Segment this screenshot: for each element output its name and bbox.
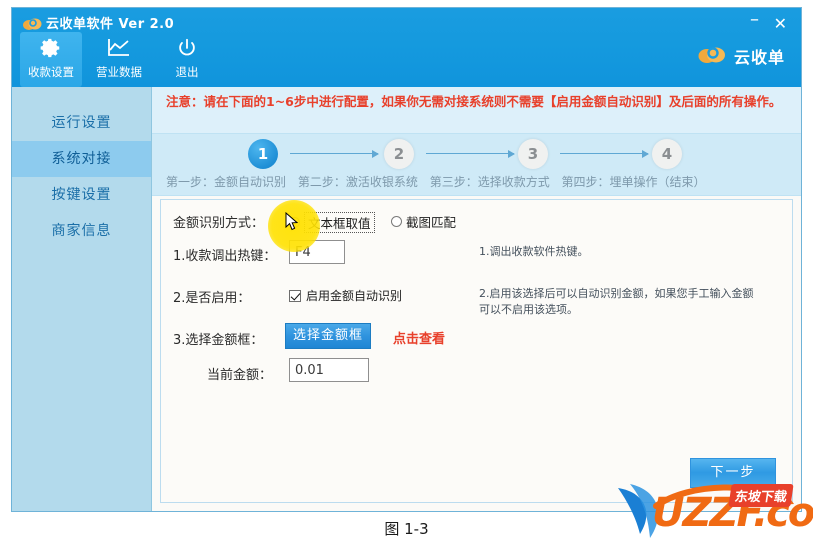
- hotkey-label: 1.收款调出热键：: [173, 245, 276, 264]
- click-view-hint[interactable]: 点击查看: [393, 328, 445, 347]
- sidebar-item-merchant-info[interactable]: 商家信息: [12, 213, 151, 249]
- step-label-2: 第二步：激活收银系统: [298, 175, 418, 189]
- sidebar-item-label: 系统对接: [52, 151, 112, 167]
- settings-panel: 金额识别方式： 文本框取值 截图匹配 1.收款调出热键： 2.是否启用： 启用金…: [160, 199, 793, 503]
- step-arrow-3-4: [560, 153, 648, 155]
- step-circle-1[interactable]: 1: [248, 139, 278, 169]
- step-circle-2[interactable]: 2: [384, 139, 414, 169]
- step-arrow-2-3: [426, 153, 514, 155]
- chart-icon: [88, 37, 150, 63]
- application-window: 云收单软件 Ver 2.0 – ✕ 收款设置: [11, 7, 802, 512]
- sidebar-item-label: 商家信息: [52, 223, 112, 239]
- sidebar-item-key-settings[interactable]: 按键设置: [12, 177, 151, 213]
- power-icon: [156, 37, 218, 63]
- content-area: 注意：请在下面的1~6步中进行配置，如果你无需对接系统则不需要【启用金额自动识别…: [152, 87, 801, 511]
- radio-textbox-label: 文本框取值: [304, 212, 375, 233]
- step-number: 1: [258, 145, 268, 163]
- checkbox-icon: [289, 290, 301, 302]
- step-circle-4[interactable]: 4: [652, 139, 682, 169]
- step-number: 2: [394, 145, 404, 163]
- step-label-1: 第一步：金额自动识别: [166, 175, 286, 189]
- sidebar-item-label: 运行设置: [52, 115, 112, 131]
- step-indicator: 1 2 3: [152, 134, 801, 196]
- enable-check-label: 启用金额自动识别: [306, 287, 402, 304]
- gear-icon: [20, 37, 82, 63]
- sidebar-item-system-integration[interactable]: 系统对接: [12, 141, 151, 177]
- select-amount-box-label: 3.选择金额框：: [173, 329, 263, 348]
- radio-screenshot-label: 截图匹配: [406, 212, 456, 231]
- step-circle-3[interactable]: 3: [518, 139, 548, 169]
- brand-logo: 云收单: [697, 42, 785, 70]
- toolbar-item-label: 营业数据: [88, 65, 150, 79]
- brand-name: 云收单: [734, 44, 785, 68]
- step-arrow-1-2: [290, 153, 378, 155]
- sidebar-item-label: 按键设置: [52, 187, 112, 203]
- radio-textbox-value[interactable]: 文本框取值: [289, 212, 375, 233]
- recognize-mode-label: 金额识别方式：: [173, 212, 264, 231]
- current-amount-label: 当前金额：: [207, 364, 272, 383]
- enable-auto-recognize-checkbox[interactable]: 启用金额自动识别: [289, 287, 402, 304]
- help-text-2: 2.启用该选择后可以自动识别金额，如果您手工输入金额可以不启用该选项。: [479, 286, 759, 318]
- toolbar-item-business-data[interactable]: 营业数据: [88, 32, 150, 87]
- step-label-3: 第三步：选择收款方式: [430, 175, 550, 189]
- step-number: 4: [662, 145, 672, 163]
- toolbar-item-payment-settings[interactable]: 收款设置: [20, 32, 82, 87]
- step-labels: 第一步：金额自动识别 第二步：激活收银系统 第三步：选择收款方式 第四步：埋单操…: [166, 173, 802, 190]
- toolbar-item-label: 收款设置: [20, 65, 82, 79]
- minimize-button[interactable]: –: [750, 12, 759, 28]
- sidebar: 运行设置 系统对接 按键设置 商家信息: [12, 87, 152, 511]
- brand-cloud-icon: [697, 42, 727, 70]
- current-amount-input[interactable]: [289, 358, 369, 382]
- screenshot-root: 云收单软件 Ver 2.0 – ✕ 收款设置: [0, 0, 813, 546]
- radio-screenshot-match[interactable]: 截图匹配: [391, 212, 456, 231]
- toolbar-item-exit[interactable]: 退出: [156, 32, 218, 87]
- figure-caption: 图 1-3: [0, 518, 813, 539]
- app-logo-icon: [22, 16, 42, 32]
- hotkey-input[interactable]: [289, 240, 345, 264]
- select-amount-box-button[interactable]: 选择金额框: [285, 323, 371, 349]
- toolbar-item-label: 退出: [156, 65, 218, 79]
- close-button[interactable]: ✕: [774, 16, 787, 32]
- title-bar: 云收单软件 Ver 2.0 – ✕ 收款设置: [12, 8, 801, 87]
- next-step-button[interactable]: 下一步: [690, 458, 776, 488]
- step-circle-row: 1 2 3: [152, 139, 801, 175]
- window-title: 云收单软件 Ver 2.0: [46, 13, 174, 32]
- notice-banner: 注意：请在下面的1~6步中进行配置，如果你无需对接系统则不需要【启用金额自动识别…: [152, 87, 801, 134]
- step-number: 3: [528, 145, 538, 163]
- radio-icon: [391, 216, 402, 227]
- sidebar-item-run-settings[interactable]: 运行设置: [12, 105, 151, 141]
- help-text-1: 1.调出收款软件热键。: [479, 244, 759, 260]
- enable-label: 2.是否启用：: [173, 287, 250, 306]
- radio-icon: [289, 217, 300, 228]
- step-label-4: 第四步：埋单操作（结束）: [562, 175, 706, 189]
